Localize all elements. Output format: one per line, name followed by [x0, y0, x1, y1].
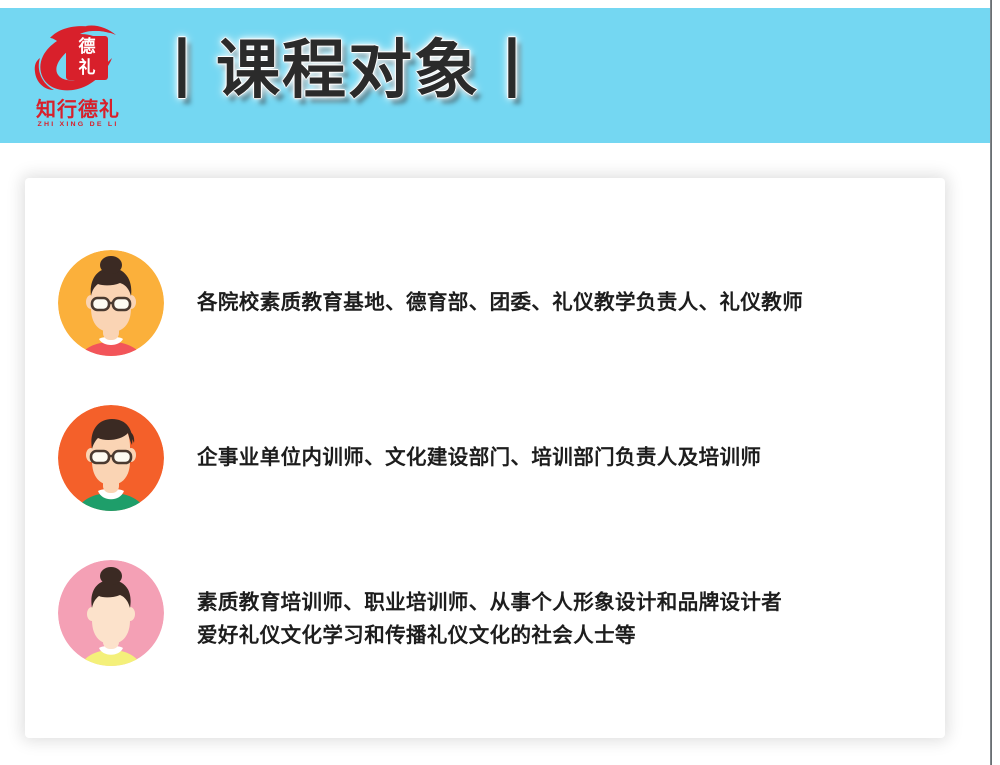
list-item-text: 素质教育培训师、职业培训师、从事个人形象设计和品牌设计者 爱好礼仪文化学习和传播…: [164, 560, 938, 652]
list-item: 企事业单位内训师、文化建设部门、培训部门负责人及培训师: [58, 405, 938, 511]
page-edge-margin: [992, 0, 1000, 765]
list-item: 各院校素质教育基地、德育部、团委、礼仪教学负责人、礼仪教师: [58, 250, 938, 356]
avatar-woman-bun-icon: [58, 560, 164, 666]
logo-mark: 德 礼: [28, 22, 128, 100]
content-card: 各院校素质教育基地、德育部、团委、礼仪教学负责人、礼仪教师: [25, 178, 945, 738]
logo-chinese-name: 知行德礼: [22, 98, 134, 120]
list-item-line: 爱好礼仪文化学习和传播礼仪文化的社会人士等: [197, 619, 938, 652]
logo-seal-char-1: 德: [66, 37, 108, 58]
page-title: 丨课程对象丨: [150, 34, 546, 108]
list-item-text: 各院校素质教育基地、德育部、团委、礼仪教学负责人、礼仪教师: [164, 250, 938, 319]
brand-logo: 德 礼 知行德礼 ZHI XING DE LI: [22, 22, 134, 134]
avatar-man-glasses-icon: [58, 405, 164, 511]
list-item-line: 企事业单位内训师、文化建设部门、培训部门负责人及培训师: [197, 441, 938, 474]
list-item-line: 各院校素质教育基地、德育部、团委、礼仪教学负责人、礼仪教师: [197, 286, 938, 319]
page-edge-rule: [990, 0, 992, 765]
logo-seal-char-2: 礼: [66, 58, 108, 79]
list-item-line: 素质教育培训师、职业培训师、从事个人形象设计和品牌设计者: [197, 586, 938, 619]
logo-seal: 德 礼: [66, 36, 108, 80]
avatar-woman-glasses-icon: [58, 250, 164, 356]
slide-root: 德 礼 知行德礼 ZHI XING DE LI 丨课程对象丨: [0, 0, 1000, 765]
list-item-text: 企事业单位内训师、文化建设部门、培训部门负责人及培训师: [164, 405, 938, 474]
list-item: 素质教育培训师、职业培训师、从事个人形象设计和品牌设计者 爱好礼仪文化学习和传播…: [58, 560, 938, 666]
logo-pinyin: ZHI XING DE LI: [22, 121, 134, 130]
